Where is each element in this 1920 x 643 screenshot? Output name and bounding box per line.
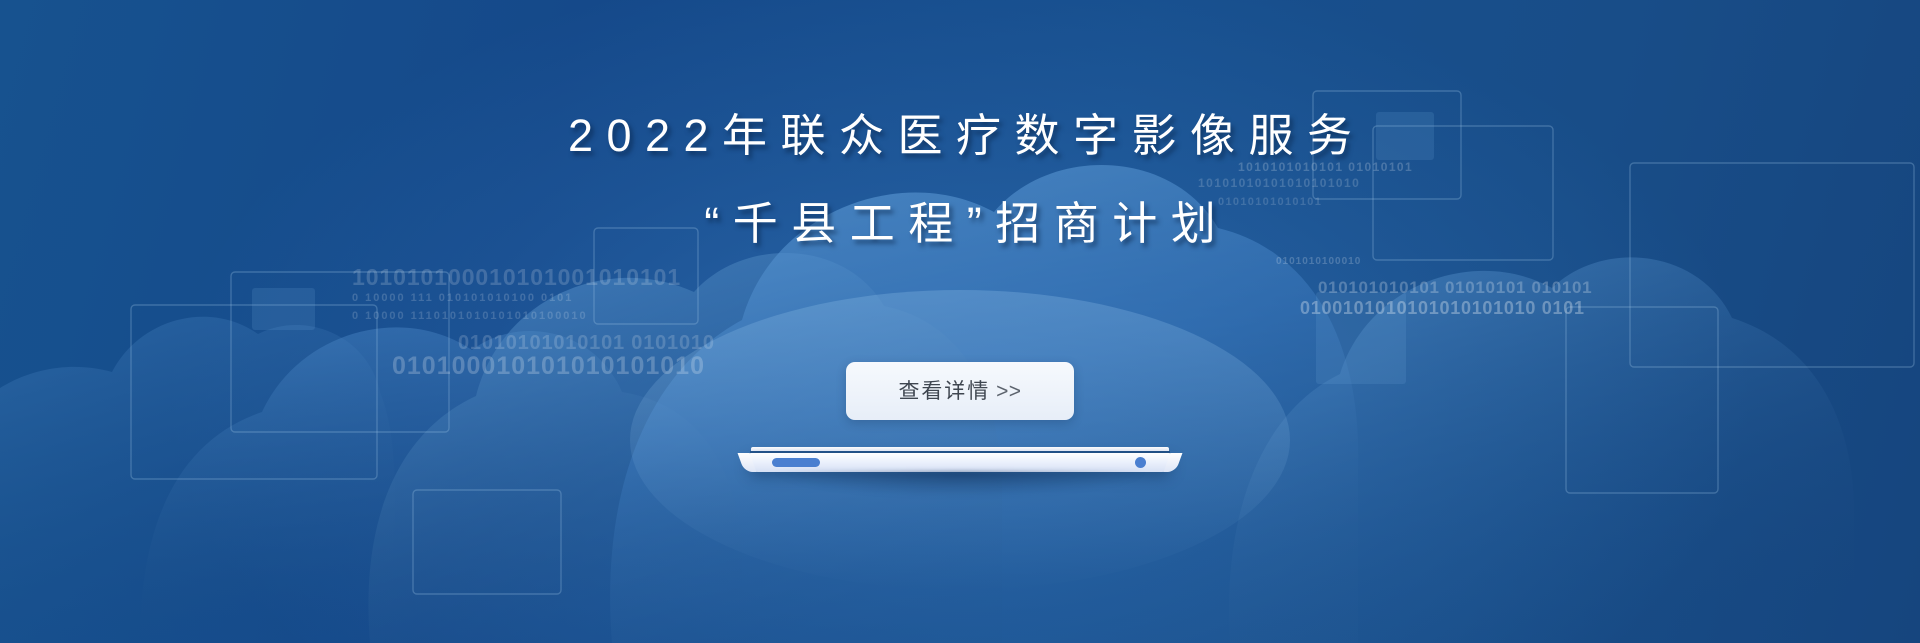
binary-text-left-1: 101010100010101001010101 (352, 264, 681, 291)
binary-text-right-5: 010101010101 01010101 010101 (1318, 278, 1592, 298)
banner-title: 2022年联众医疗数字影像服务 “千县工程”招商计划 (0, 96, 1920, 264)
camera-dot-icon (1135, 457, 1146, 468)
binary-text-left-2: 0 10000 111 010101010100 0101 (352, 292, 573, 304)
binary-text-right-6: 0100101010101010101010 0101 (1300, 298, 1585, 319)
laptop-base (748, 453, 1172, 472)
view-details-button[interactable]: 查看详情>> (846, 362, 1074, 420)
binary-text-left-4: 01010101010101 0101010 (458, 332, 715, 355)
laptop-illustration (748, 447, 1172, 472)
cta-container: 查看详情>> (0, 362, 1920, 420)
promo-banner: 101010100010101001010101 0 10000 111 010… (0, 0, 1920, 643)
title-line-2: “千县工程”招商计划 (0, 184, 1920, 264)
title-line-1: 2022年联众医疗数字影像服务 (0, 96, 1920, 176)
view-details-label: 查看详情 (899, 380, 991, 403)
chevron-right-icon: >> (996, 380, 1021, 403)
power-indicator-icon (772, 458, 820, 467)
center-glow (630, 290, 1290, 590)
cloud-right (1229, 257, 1854, 643)
laptop-drop-shadow (776, 471, 1144, 497)
binary-text-left-3: 0 10000 1110101010101010100010 (352, 310, 588, 322)
